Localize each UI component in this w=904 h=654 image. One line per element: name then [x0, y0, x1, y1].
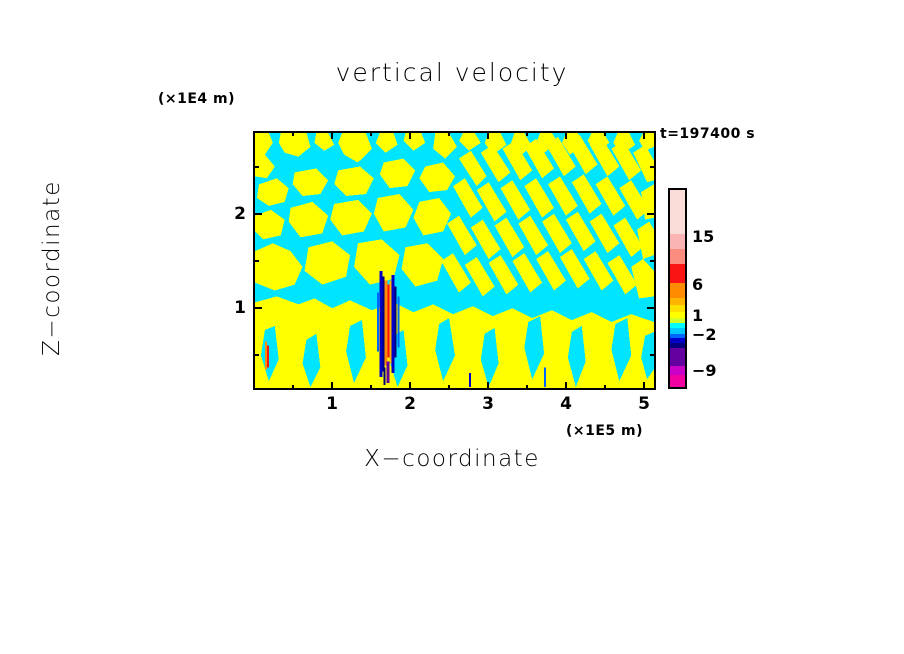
colorbar-band [670, 366, 685, 375]
x-tick-minor-top [565, 131, 567, 139]
y-tick-minor-right [650, 166, 656, 168]
colorbar-band [670, 312, 685, 319]
colorbar-label-15: 15 [692, 227, 714, 246]
x-tick-minor-top [604, 131, 606, 136]
colorbar-band [670, 264, 685, 283]
x-tick-minor-top [487, 131, 489, 139]
y-tick-minor [253, 354, 259, 356]
x-tick-minor-top [526, 131, 528, 136]
x-tick-major-4 [565, 382, 567, 390]
chart-title: vertical velocity [0, 58, 904, 87]
y-tick-major-right [647, 213, 656, 215]
x-axis-title: X−coordinate [0, 446, 904, 472]
colorbar-band [670, 249, 685, 264]
x-tick-major-1 [331, 382, 333, 390]
x-tick-minor [292, 385, 294, 390]
x-tick-minor-top [370, 131, 372, 136]
x-tick-minor-top [292, 131, 294, 136]
colorbar-band [670, 283, 685, 298]
timestamp-annotation: t=197400 s [660, 126, 755, 142]
x-tick-minor-top [331, 131, 333, 139]
y-tick-major-right [647, 307, 656, 309]
y-tick-label-1: 1 [216, 298, 246, 318]
heatmap-field [255, 133, 654, 388]
x-tick-label-5: 5 [629, 394, 659, 414]
x-tick-minor [604, 385, 606, 390]
x-tick-major-5 [643, 382, 645, 390]
colorbar-band [670, 298, 685, 305]
x-axis-unit-label: (×1E5 m) [566, 423, 643, 439]
x-tick-minor [448, 385, 450, 390]
y-tick-major-2 [253, 213, 262, 215]
colorbar-label-6: 6 [692, 275, 703, 294]
y-axis-unit-label: (×1E4 m) [158, 91, 235, 107]
y-tick-minor [253, 260, 259, 262]
y-tick-minor [253, 166, 259, 168]
x-tick-minor [526, 385, 528, 390]
x-tick-minor-top [409, 131, 411, 139]
colorbar-band [670, 190, 685, 234]
colorbar-band [670, 305, 685, 312]
colorbar-label-m9: −9 [692, 361, 717, 380]
x-tick-label-1: 1 [317, 394, 347, 414]
colorbar-label-m2: −2 [692, 325, 717, 344]
x-tick-minor-top [448, 131, 450, 136]
colorbar [668, 188, 687, 389]
y-tick-major-1 [253, 307, 262, 309]
y-tick-minor-right [650, 354, 656, 356]
x-tick-label-4: 4 [551, 394, 581, 414]
colorbar-band [670, 234, 685, 249]
colorbar-band [670, 348, 685, 366]
y-tick-minor-right [650, 260, 656, 262]
plot-area [253, 131, 656, 390]
x-tick-major-3 [487, 382, 489, 390]
x-tick-minor-top [643, 131, 645, 139]
x-tick-minor [370, 385, 372, 390]
colorbar-band [670, 375, 685, 387]
colorbar-label-1: 1 [692, 306, 703, 325]
x-tick-label-3: 3 [473, 394, 503, 414]
y-axis-title: Z−coordinate [39, 128, 65, 408]
x-tick-major-2 [409, 382, 411, 390]
x-tick-label-2: 2 [395, 394, 425, 414]
y-tick-label-2: 2 [216, 204, 246, 224]
